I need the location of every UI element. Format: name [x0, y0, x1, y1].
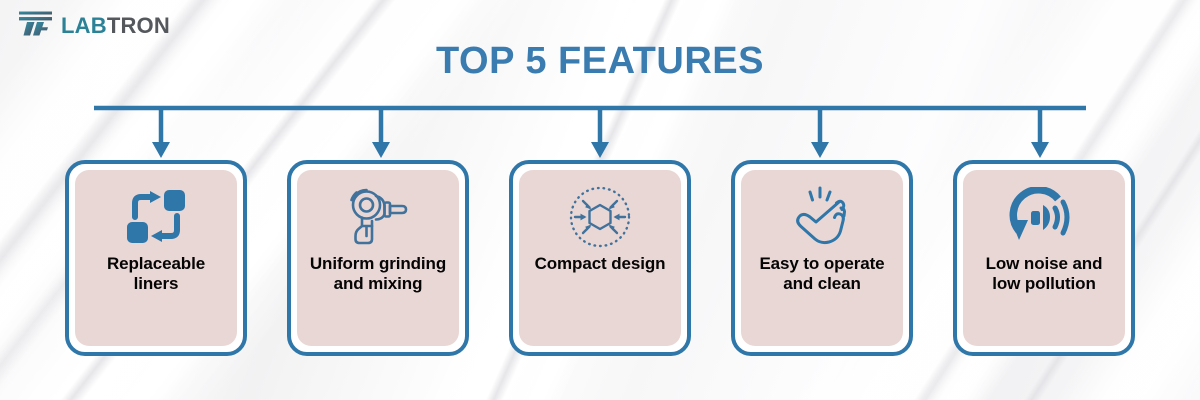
hand-tap-gesture-icon — [790, 184, 854, 250]
card-inner: Compact design — [519, 170, 681, 346]
brand-logo[interactable]: LABTRON — [18, 10, 170, 41]
page-title: TOP 5 FEATURES — [0, 42, 1200, 80]
feature-card-label: Easy to operate and clean — [749, 254, 895, 294]
labtron-monogram-icon — [18, 10, 54, 41]
feature-card-low-noise-and-low-pollution[interactable]: Low noise and low pollution — [953, 160, 1135, 356]
feature-card-label: Low noise and low pollution — [971, 254, 1117, 294]
brand-wordmark-lab: LAB — [61, 13, 107, 38]
card-inner: Low noise and low pollution — [963, 170, 1125, 346]
feature-card-label: Replaceable liners — [83, 254, 229, 294]
angle-grinder-icon — [345, 184, 411, 250]
brand-wordmark: LABTRON — [61, 15, 170, 37]
feature-card-list: Replaceable liners — [0, 160, 1200, 356]
feature-card-label: Uniform grinding and mixing — [305, 254, 451, 294]
swap-exchange-icon — [124, 184, 188, 250]
feature-card-label: Compact design — [533, 254, 668, 274]
feature-card-easy-to-operate-and-clean[interactable]: Easy to operate and clean — [731, 160, 913, 356]
feature-card-uniform-grinding-and-mixing[interactable]: Uniform grinding and mixing — [287, 160, 469, 356]
feature-card-compact-design[interactable]: Compact design — [509, 160, 691, 356]
card-inner: Uniform grinding and mixing — [297, 170, 459, 346]
feature-card-replaceable-liners[interactable]: Replaceable liners — [65, 160, 247, 356]
card-inner: Replaceable liners — [75, 170, 237, 346]
brand-wordmark-tron: TRON — [107, 13, 170, 38]
infographic-canvas: LABTRON TOP 5 FEATURES — [0, 0, 1200, 400]
speaker-volume-down-icon — [1009, 184, 1079, 250]
connector-bracket — [0, 100, 1200, 164]
card-inner: Easy to operate and clean — [741, 170, 903, 346]
compress-hexagon-icon — [567, 184, 633, 250]
